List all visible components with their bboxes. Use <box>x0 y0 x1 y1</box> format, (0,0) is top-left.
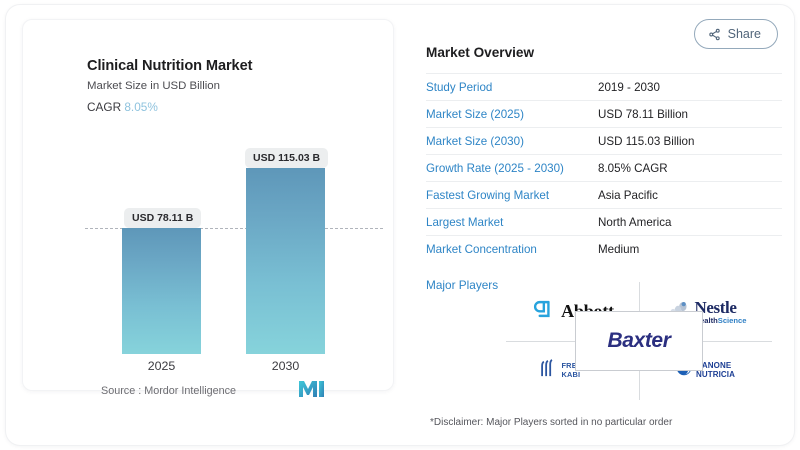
row-value: 2019 - 2030 <box>598 81 660 94</box>
row-value: Medium <box>598 243 639 256</box>
share-button-label: Share <box>728 27 761 41</box>
table-row: Largest Market North America <box>426 208 782 235</box>
x-axis-tick-2030: 2030 <box>246 359 325 373</box>
report-card: Share Clinical Nutrition Market Market S… <box>6 5 794 445</box>
row-value: North America <box>598 216 671 229</box>
bar-2030[interactable] <box>246 168 325 354</box>
x-axis-tick-2025: 2025 <box>122 359 201 373</box>
nutricia-wordmark: NUTRICIA <box>696 371 735 380</box>
market-overview-panel: Market Overview Study Period 2019 - 2030… <box>426 45 782 292</box>
row-key: Growth Rate (2025 - 2030) <box>426 162 598 175</box>
major-players-grid: Abbott Nestle <box>506 282 772 400</box>
baxter-wordmark: Baxter <box>608 329 671 353</box>
bar-label-2025: USD 78.11 B <box>124 208 201 228</box>
nestle-sub-science: Science <box>718 316 747 325</box>
table-row: Fastest Growing Market Asia Pacific <box>426 181 782 208</box>
row-value: USD 115.03 Billion <box>598 135 694 148</box>
row-key: Market Size (2025) <box>426 108 598 121</box>
source-text: Source : Mordor Intelligence <box>101 385 236 397</box>
bar-2025[interactable] <box>122 228 201 354</box>
row-key: Study Period <box>426 81 598 94</box>
kabi-wordmark: KABI <box>561 371 605 380</box>
row-value: USD 78.11 Billion <box>598 108 688 121</box>
disclaimer-text: *Disclaimer: Major Players sorted in no … <box>430 417 672 428</box>
fresenius-kabi-mark-icon <box>539 359 556 382</box>
player-cell-baxter: Baxter <box>575 311 703 371</box>
row-value: 8.05% CAGR <box>598 162 668 175</box>
table-row: Market Size (2030) USD 115.03 Billion <box>426 127 782 154</box>
table-row: Growth Rate (2025 - 2030) 8.05% CAGR <box>426 154 782 181</box>
row-key: Fastest Growing Market <box>426 189 598 202</box>
share-nodes-icon <box>708 28 721 41</box>
table-row: Market Size (2025) USD 78.11 Billion <box>426 100 782 127</box>
bar-chart-plot: USD 78.11 B USD 115.03 B 2025 2030 <box>23 20 395 392</box>
share-button[interactable]: Share <box>694 19 778 49</box>
screenshot-root: Share Clinical Nutrition Market Market S… <box>0 0 800 450</box>
table-row: Market Concentration Medium <box>426 235 782 262</box>
bar-label-2030: USD 115.03 B <box>245 148 328 168</box>
abbott-mark-icon <box>531 298 553 325</box>
row-key: Largest Market <box>426 216 598 229</box>
mordor-intelligence-logo <box>299 381 325 402</box>
table-row: Study Period 2019 - 2030 <box>426 73 782 100</box>
row-value: Asia Pacific <box>598 189 658 202</box>
chart-card: Clinical Nutrition Market Market Size in… <box>22 19 394 391</box>
row-key: Market Concentration <box>426 243 598 256</box>
row-key: Market Size (2030) <box>426 135 598 148</box>
